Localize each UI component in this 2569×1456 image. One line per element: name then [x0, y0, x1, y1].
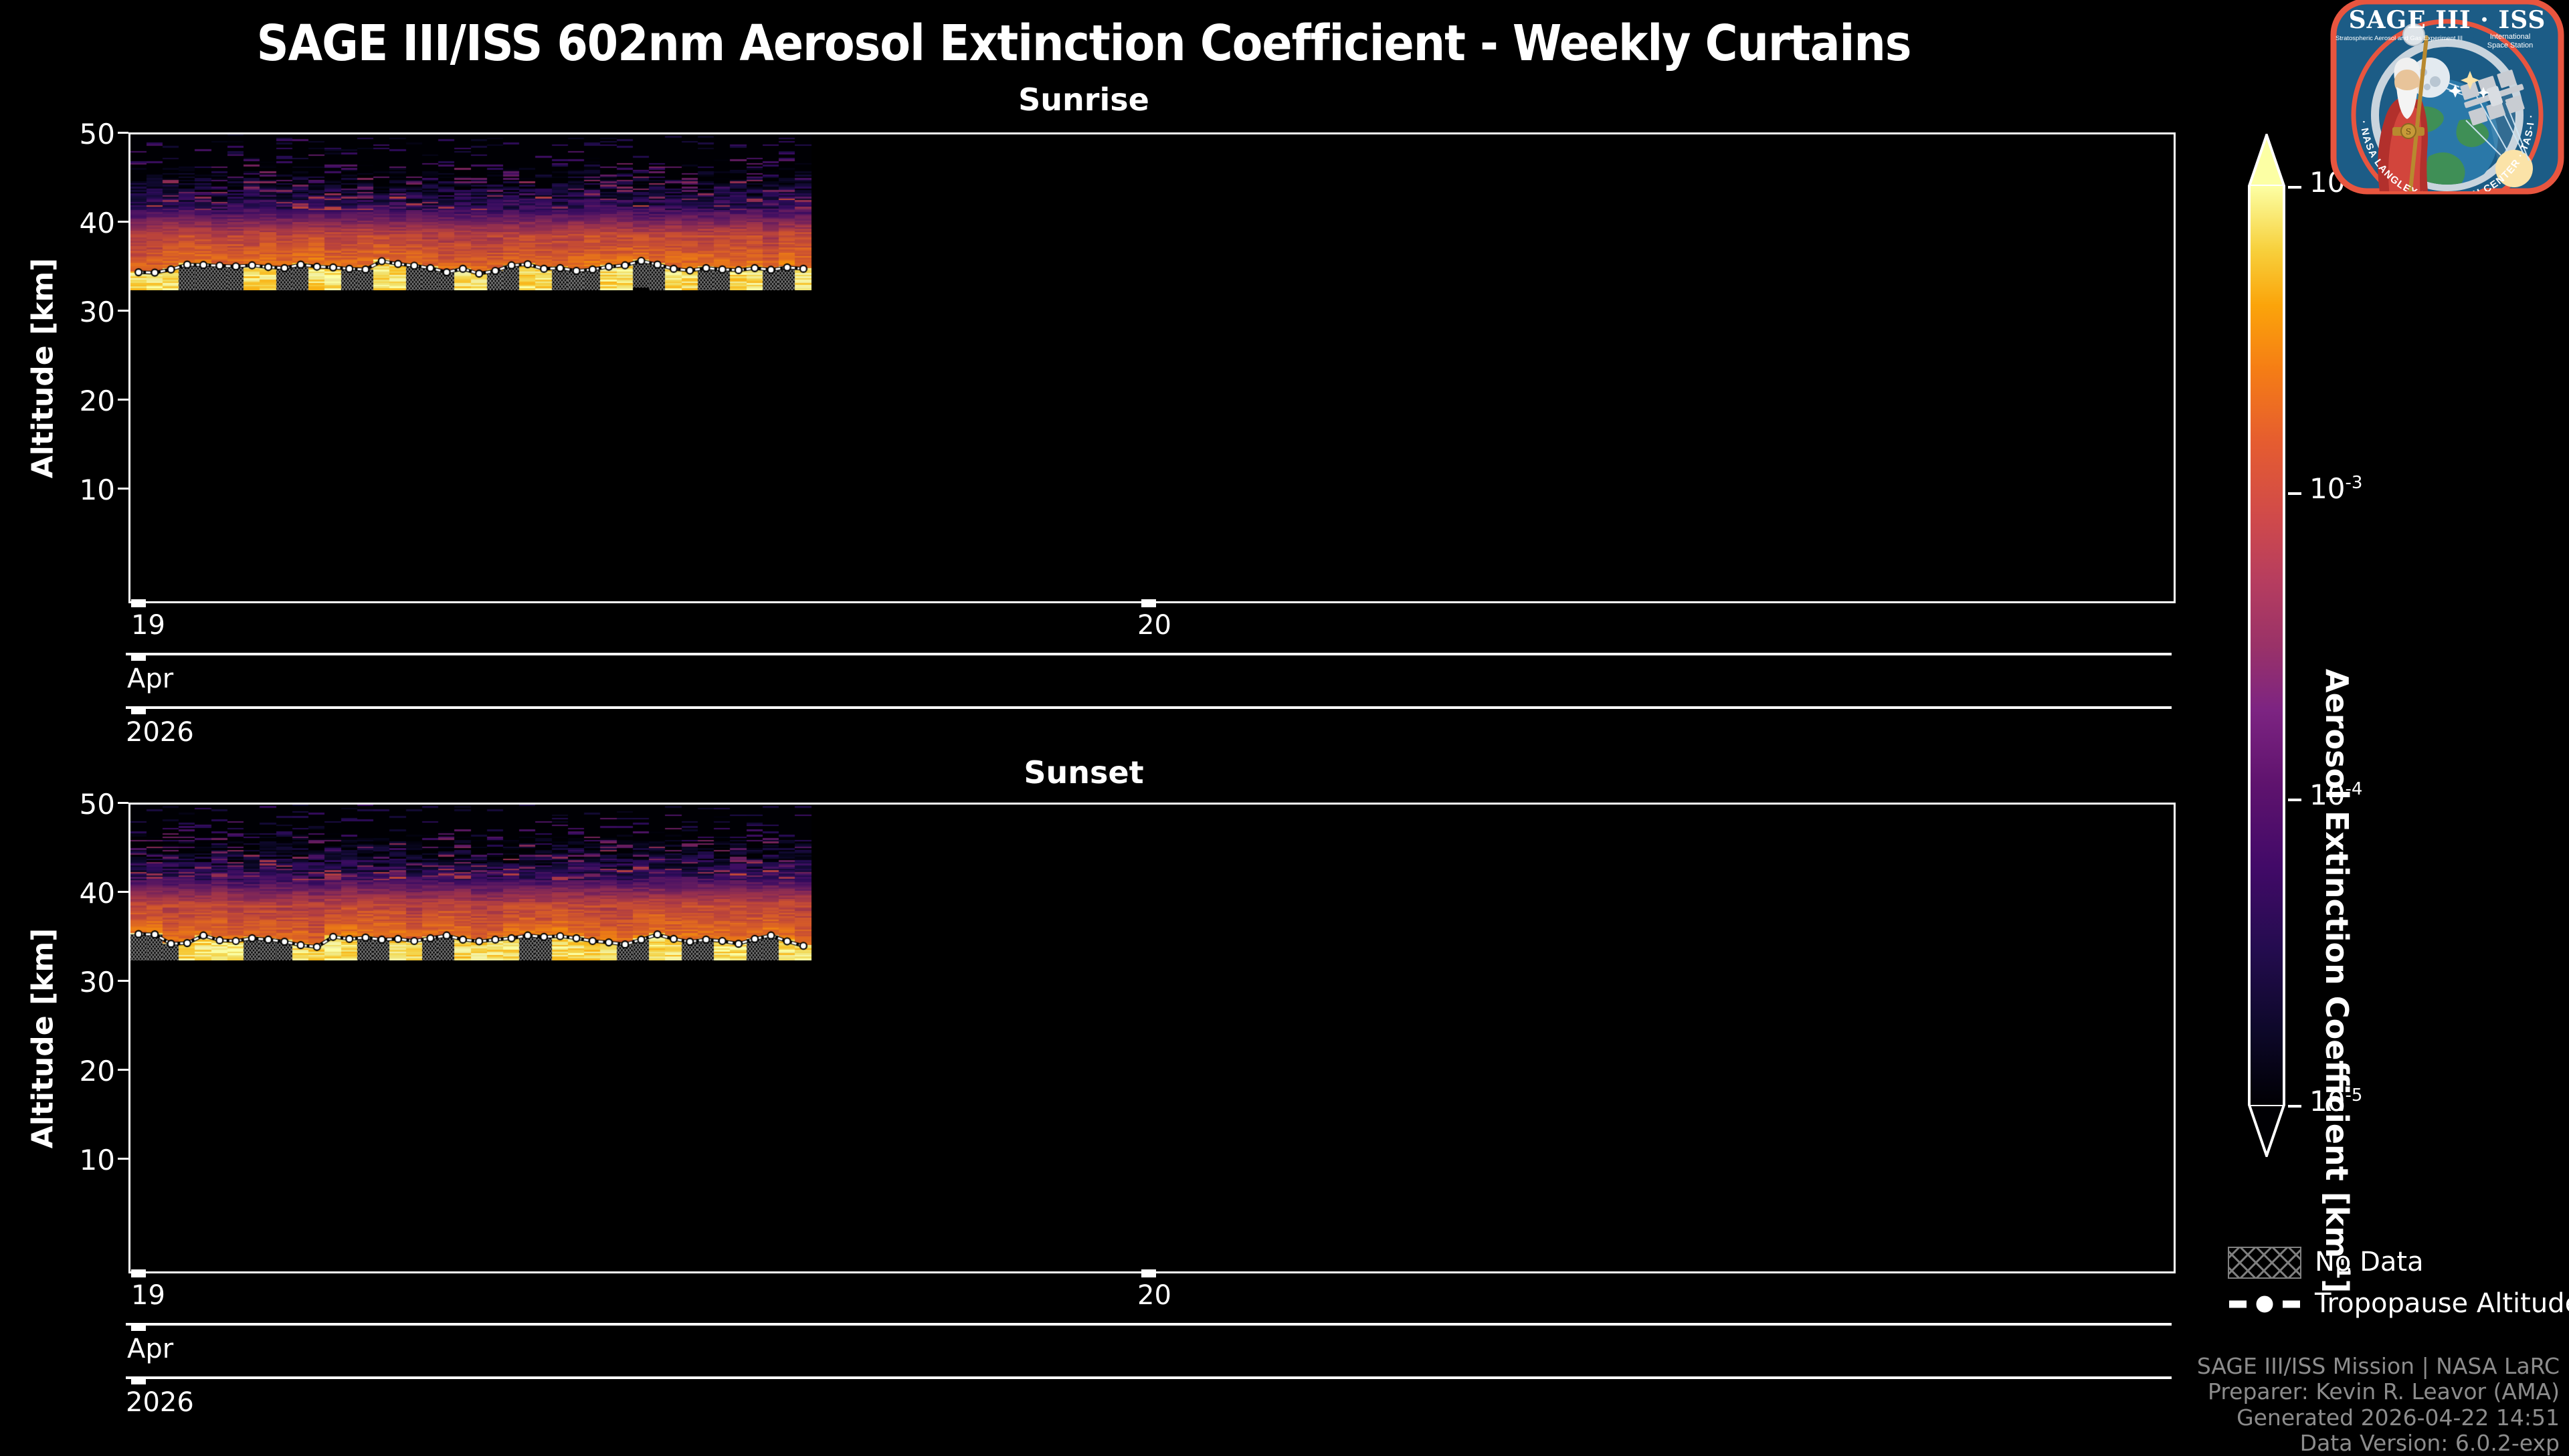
xtickmark-sunset-year — [131, 1376, 146, 1384]
colorbar-extend-max-arrow — [2248, 134, 2285, 186]
ytick-sunrise-30: 30 — [41, 296, 115, 328]
ytickmark-sunset-40 — [118, 891, 128, 893]
panel-title-sunset: Sunset — [24, 754, 2144, 791]
ytickmark-sunset-10 — [118, 1158, 128, 1160]
colorbar-extend-min-arrow — [2248, 1105, 2285, 1157]
panel-title-sunrise: Sunrise — [24, 82, 2144, 118]
footer-line-1: SAGE III/ISS Mission | NASA LaRC — [2197, 1354, 2560, 1379]
legend-label-no-data: No Data — [2315, 1247, 2424, 1277]
logo-subtitle-left: Stratospheric Aerosol and Gas Experiment… — [2336, 35, 2463, 42]
colorbar-axis-label: Aerosol Extinction Coefficient [km-1] — [2319, 669, 2355, 1293]
ytick-sunset-40: 40 — [41, 877, 115, 910]
ytick-sunrise-20: 20 — [41, 385, 115, 417]
footer-credits: SAGE III/ISS Mission | NASA LaRC Prepare… — [2197, 1354, 2560, 1456]
xaxis-sep-day-sunrise — [126, 653, 2172, 655]
ytick-sunset-20: 20 — [41, 1055, 115, 1087]
xtickmark-sunset-19 — [131, 1269, 146, 1277]
ytick-sunset-10: 10 — [41, 1144, 115, 1176]
xtick-sunrise-day-20: 20 — [1137, 610, 1171, 641]
footer-line-3: Generated 2026-04-22 14:51 — [2197, 1405, 2560, 1431]
ytickmark-sunrise-10 — [118, 488, 128, 490]
ytick-sunrise-40: 40 — [41, 207, 115, 239]
xtickmark-sunrise-20 — [1141, 599, 1156, 607]
ytick-sunrise-10: 10 — [41, 474, 115, 506]
legend-label-tropopause: Tropopause Altitude — [2315, 1288, 2569, 1319]
colorbar-gradient — [2248, 186, 2285, 1105]
ytickmark-sunrise-50 — [118, 132, 128, 134]
ytickmark-sunrise-40 — [118, 221, 128, 223]
xtick-sunrise-day-19: 19 — [131, 610, 165, 641]
heatmap-canvas-sunrise — [130, 134, 812, 290]
colorbar-tickmark-1e-3 — [2288, 492, 2301, 495]
xaxis-sep-day-sunset — [126, 1323, 2172, 1326]
legend-item-tropopause[interactable]: Tropopause Altitude — [2228, 1285, 2562, 1327]
colorbar-tickmark-1e-5 — [2288, 1105, 2301, 1108]
xtickmark-sunrise-year — [131, 706, 146, 714]
legend-item-no-data[interactable]: No Data — [2228, 1244, 2562, 1285]
xtick-sunset-year: 2026 — [126, 1387, 194, 1418]
footer-line-2: Preparer: Kevin R. Leavor (AMA) — [2197, 1379, 2560, 1405]
colorbar-ticklabel-1e-3: 10-3 — [2309, 472, 2362, 505]
xtickmark-sunrise-19 — [131, 599, 146, 607]
sage-iii-iss-mission-patch-logo[interactable]: S BALL · NASA LANGLEY RESEARCH CENTER · … — [2328, 0, 2566, 197]
ytickmark-sunset-20 — [118, 1069, 128, 1071]
svg-text:S: S — [2406, 127, 2411, 136]
logo-subtitle-right-1: International — [2490, 33, 2531, 41]
ytickmark-sunset-50 — [118, 802, 128, 804]
xtick-sunset-day-20: 20 — [1137, 1280, 1171, 1311]
logo-title: SAGE III · ISS — [2349, 6, 2546, 34]
ytickmark-sunrise-20 — [118, 399, 128, 401]
footer-line-4: Data Version: 6.0.2-exp — [2197, 1431, 2560, 1456]
colorbar[interactable]: 10-2 10-3 10-4 10-5 — [2248, 134, 2285, 1157]
xtickmark-sunset-20 — [1141, 1269, 1156, 1277]
ytickmark-sunset-30 — [118, 980, 128, 982]
xaxis-sep-month-sunset — [126, 1376, 2172, 1379]
xtickmark-sunrise-month — [131, 653, 146, 661]
logo-subtitle-right-2: Space Station — [2487, 41, 2534, 49]
heatmap-canvas-sunset — [130, 805, 812, 960]
xtickmark-sunset-month — [131, 1323, 146, 1331]
dashed-marker-line-icon — [2228, 1288, 2301, 1320]
ytick-sunset-50: 50 — [41, 788, 115, 821]
ytick-sunset-30: 30 — [41, 966, 115, 999]
xtick-sunset-day-19: 19 — [131, 1280, 165, 1311]
plot-sunset[interactable] — [128, 803, 2176, 1273]
colorbar-tickmark-1e-4 — [2288, 799, 2301, 801]
page-title: SAGE III/ISS 602nm Aerosol Extinction Co… — [0, 15, 2168, 72]
xtick-sunrise-year: 2026 — [126, 717, 194, 748]
xaxis-sep-month-sunrise — [126, 706, 2172, 709]
xtick-sunset-month: Apr — [127, 1334, 173, 1364]
ytick-sunrise-50: 50 — [41, 118, 115, 150]
colorbar-tickmark-1e-2 — [2288, 186, 2301, 189]
legend: No Data Tropopause Altitude — [2228, 1244, 2562, 1327]
xtick-sunrise-month: Apr — [127, 663, 173, 694]
plot-sunrise[interactable] — [128, 132, 2176, 603]
hatch-swatch-icon — [2228, 1247, 2301, 1279]
ytickmark-sunrise-30 — [118, 310, 128, 312]
